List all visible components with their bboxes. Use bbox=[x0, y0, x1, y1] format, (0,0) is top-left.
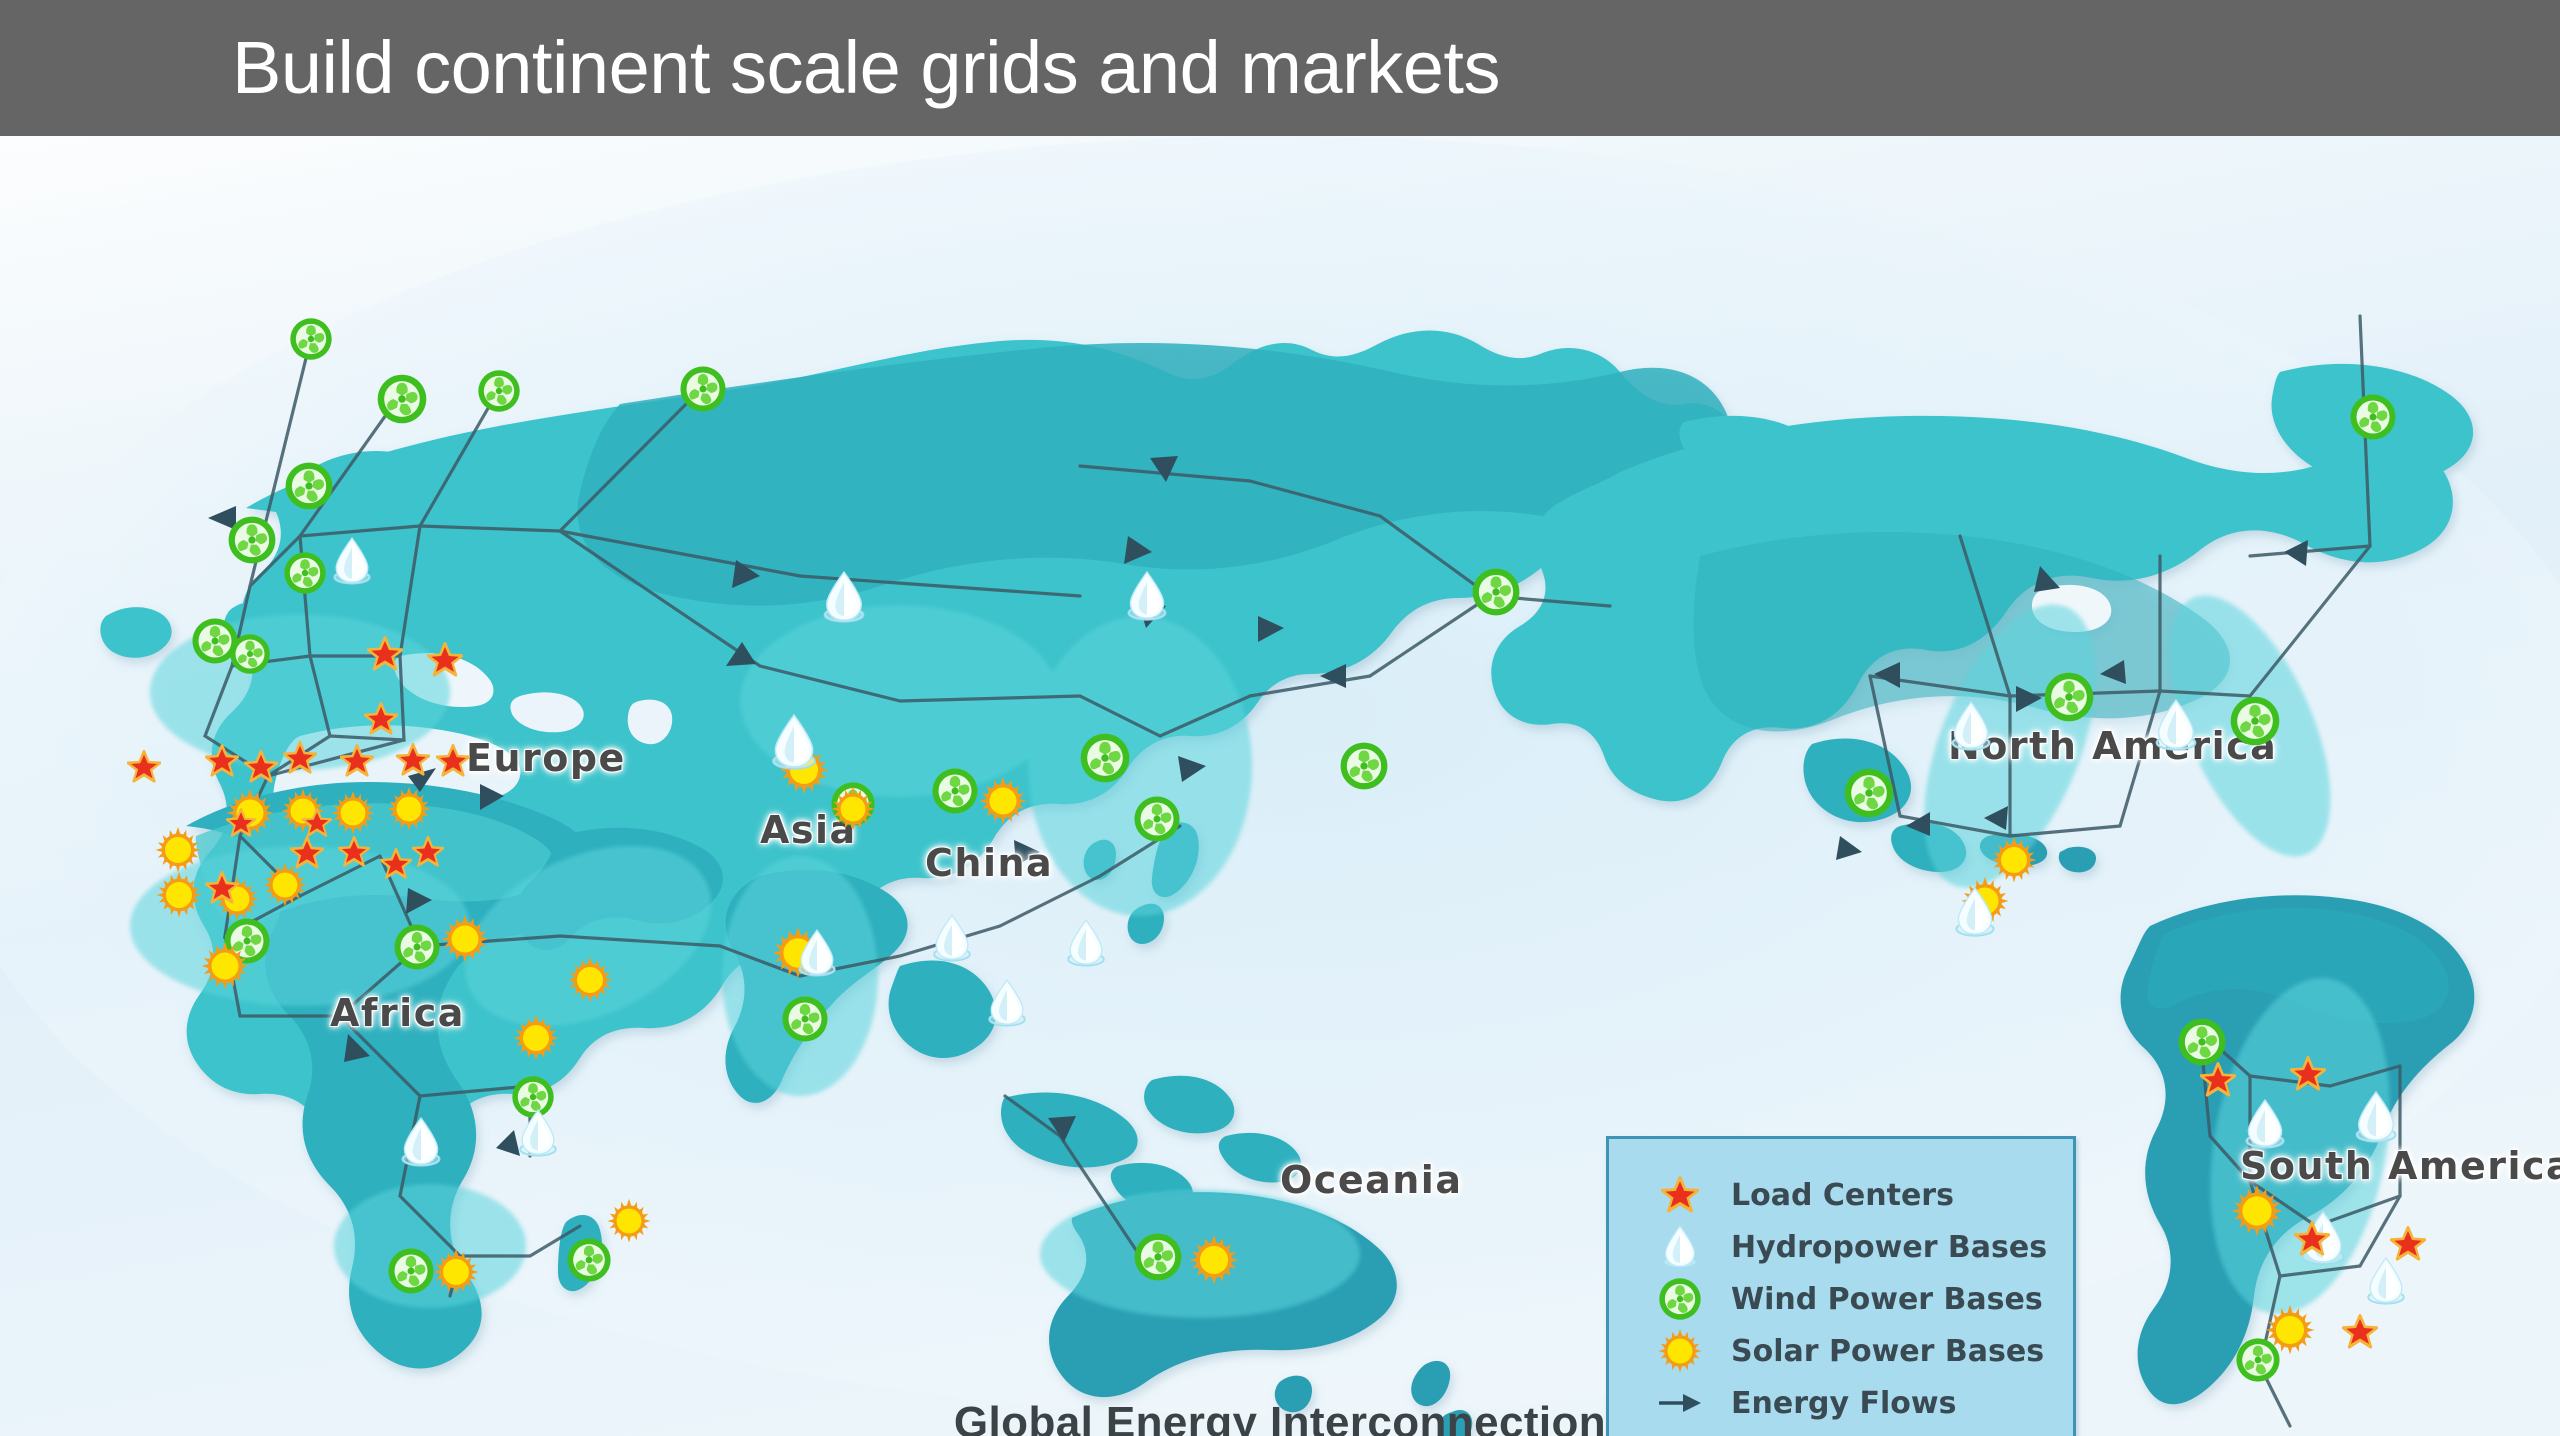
legend-item-wind: Wind Power Bases bbox=[1651, 1273, 2061, 1325]
legend-label-wind: Wind Power Bases bbox=[1731, 1282, 2043, 1317]
map-caption: Global Energy Interconnection bbox=[0, 1398, 2560, 1436]
hydropower-droplet-icon bbox=[1651, 1222, 1709, 1272]
wind-turbine-icon bbox=[1651, 1274, 1709, 1324]
legend-item-load-centers: Load Centers bbox=[1651, 1169, 2061, 1221]
legend-label-load-centers: Load Centers bbox=[1731, 1178, 1954, 1213]
page-title: Build continent scale grids and markets bbox=[232, 18, 1500, 118]
slide: Build continent scale grids and markets bbox=[0, 0, 2560, 1436]
header-bar: Build continent scale grids and markets bbox=[0, 0, 2560, 136]
slide-content: Europe Asia China Africa Oceania North A… bbox=[0, 136, 2560, 1436]
legend-item-hydropower: Hydropower Bases bbox=[1651, 1221, 2061, 1273]
legend-label-solar: Solar Power Bases bbox=[1731, 1334, 2044, 1369]
solar-sun-icon bbox=[1651, 1326, 1709, 1376]
legend-label-hydropower: Hydropower Bases bbox=[1731, 1230, 2047, 1265]
world-map-image bbox=[0, 136, 2560, 1436]
legend-item-solar: Solar Power Bases bbox=[1651, 1325, 2061, 1377]
legend-rows: Load Centers Hydropower Bases Wind Power… bbox=[1651, 1169, 2061, 1436]
map-legend: Load Centers Hydropower Bases Wind Power… bbox=[1606, 1136, 2076, 1436]
load-center-star-icon bbox=[1651, 1170, 1709, 1220]
